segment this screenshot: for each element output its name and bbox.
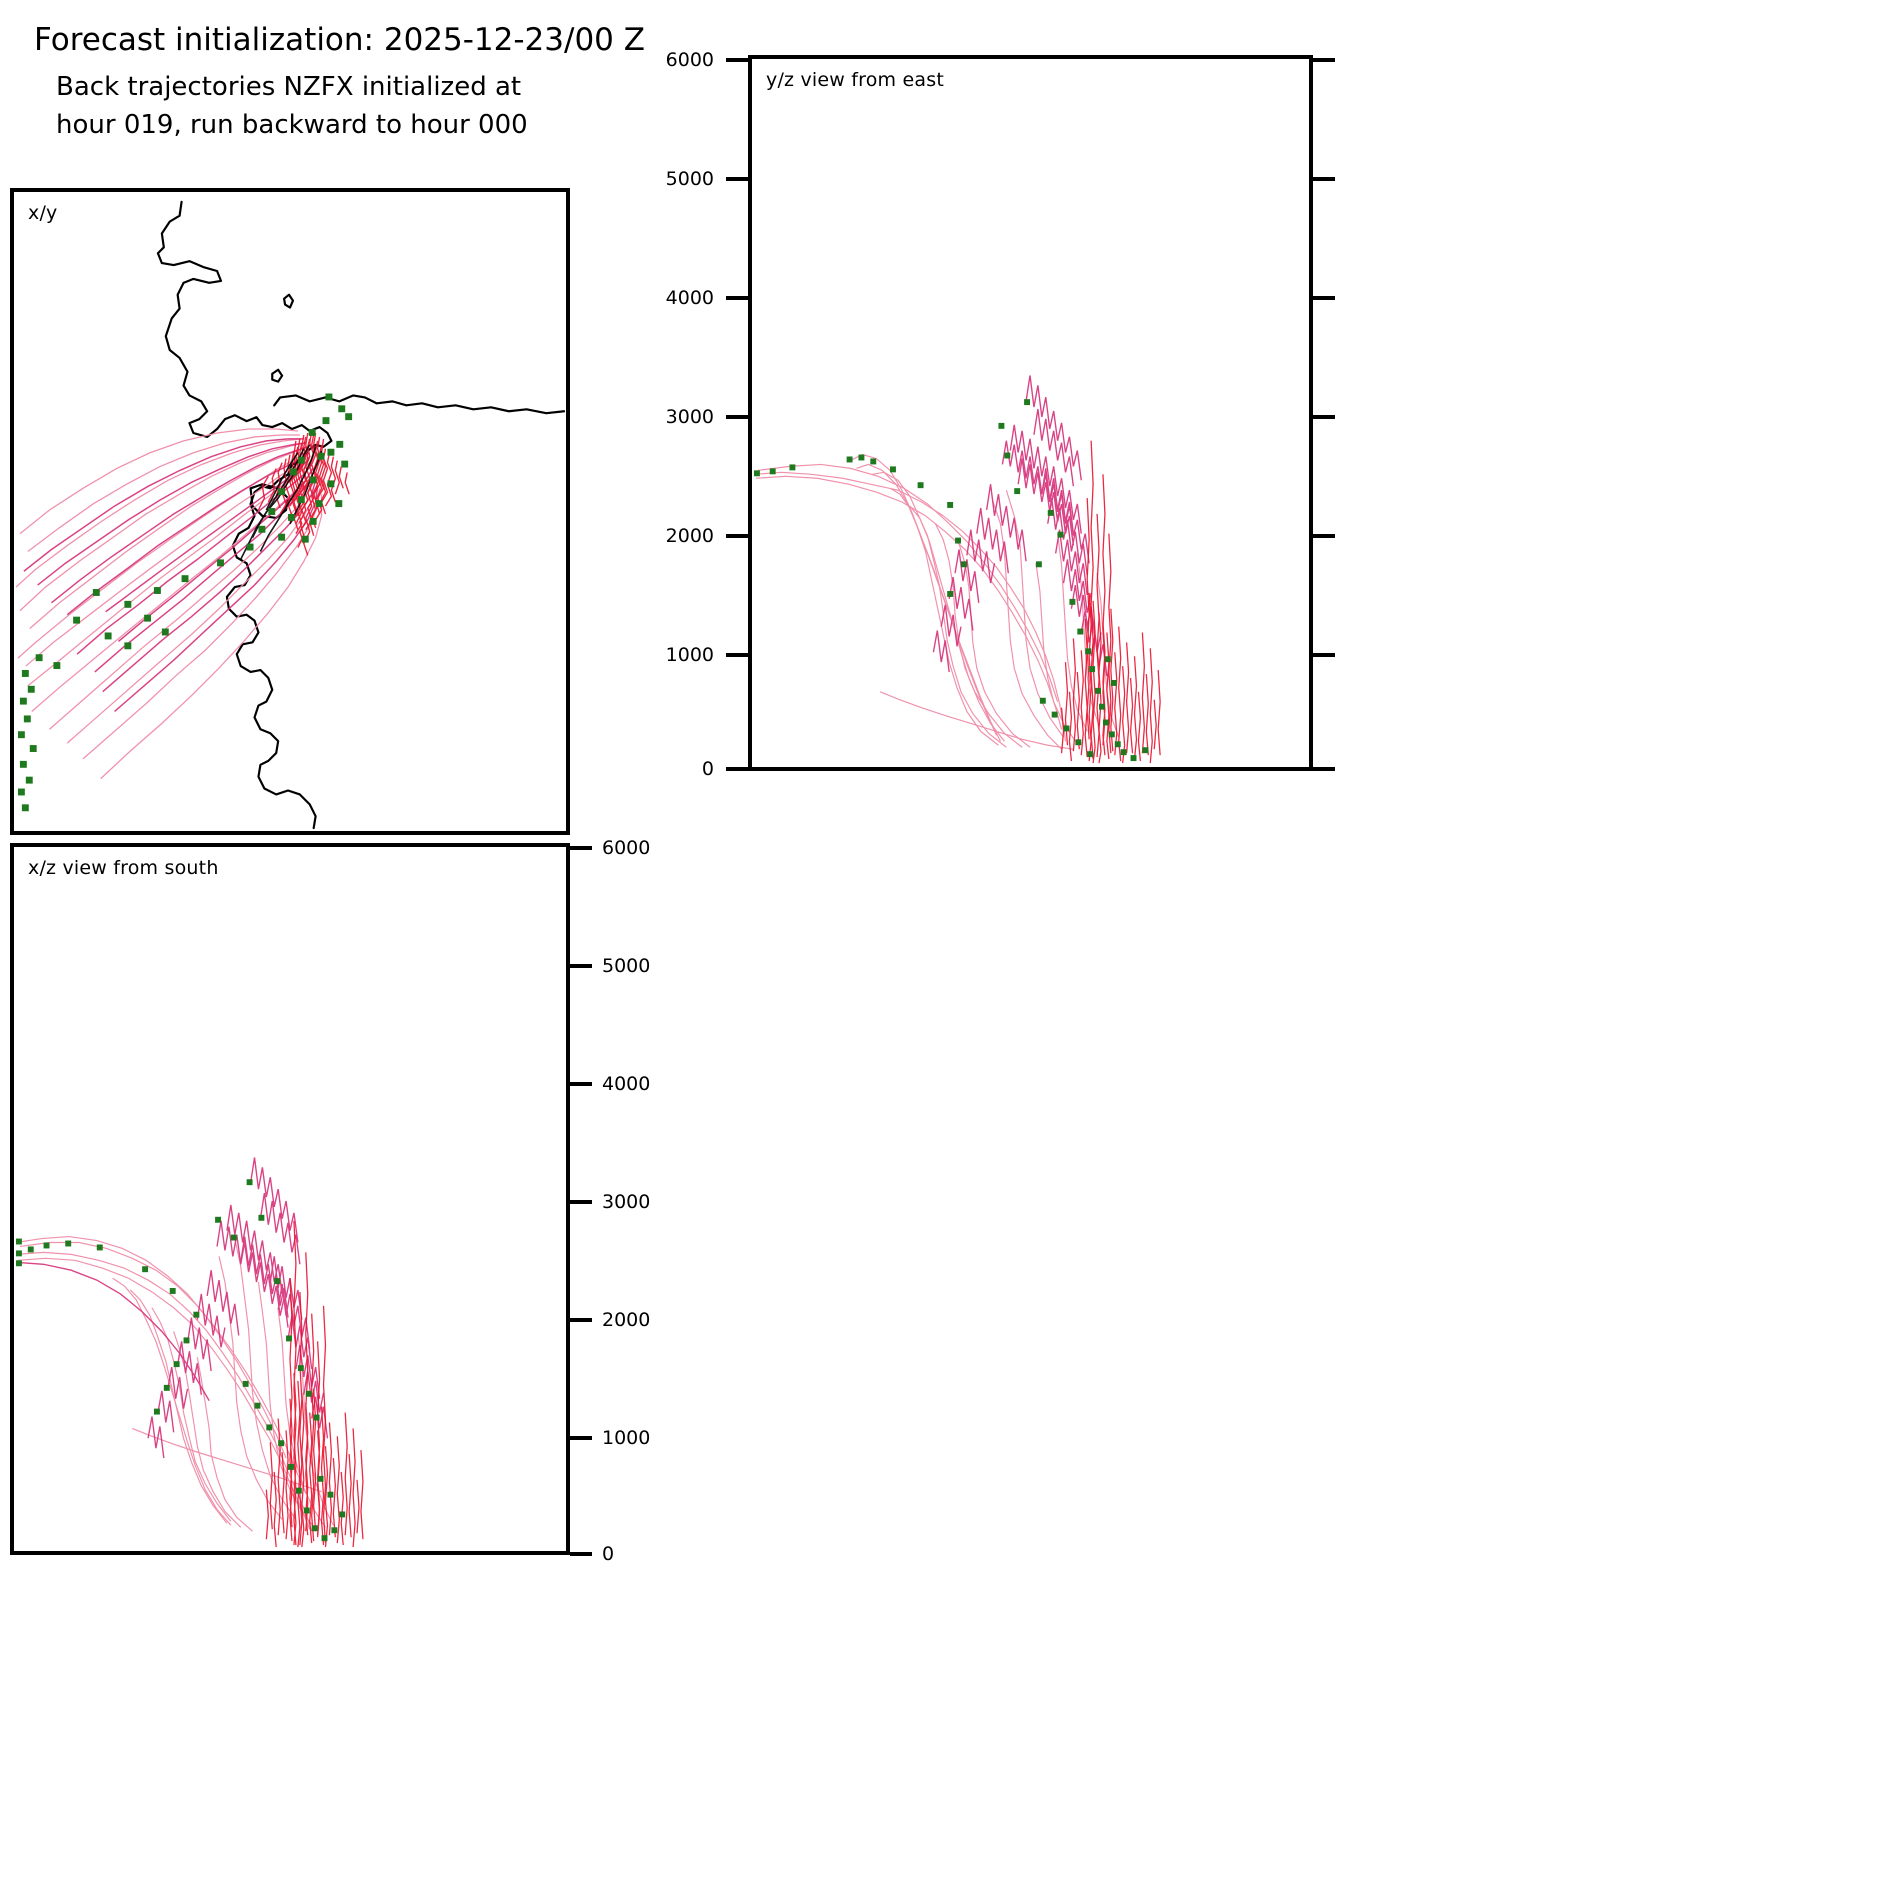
xz-tick-1000: 1000 — [602, 1427, 650, 1449]
panel-xy[interactable]: x/y — [10, 188, 570, 835]
panel-xz[interactable]: x/z view from south — [10, 843, 570, 1555]
xz-trajectories-mid — [16, 1157, 327, 1458]
yz-tick-0: 0 — [702, 758, 714, 780]
yz-y-axis: 6000 5000 4000 3000 2000 1000 0 — [660, 55, 748, 771]
xz-plot-canvas — [14, 847, 566, 1551]
xz-tick-5000: 5000 — [602, 955, 650, 977]
panel-yz-label: y/z view from east — [766, 69, 944, 91]
xz-tick-6000: 6000 — [602, 837, 650, 859]
xz-y-axis: 6000 5000 4000 3000 2000 1000 0 — [570, 843, 668, 1555]
xz-tick-3000: 3000 — [602, 1191, 650, 1213]
yz-tick-5000: 5000 — [666, 168, 714, 190]
yz-tick-2000: 2000 — [666, 525, 714, 547]
xz-tick-2000: 2000 — [602, 1309, 650, 1331]
xz-tick-4000: 4000 — [602, 1073, 650, 1095]
page-title: Forecast initialization: 2025-12-23/00 Z — [34, 20, 854, 60]
coastline-group — [158, 202, 564, 828]
xy-plot-canvas — [14, 192, 566, 831]
panel-xy-label: x/y — [28, 202, 58, 224]
yz-tick-3000: 3000 — [666, 406, 714, 428]
yz-plot-canvas — [752, 59, 1309, 767]
yz-tick-6000: 6000 — [666, 49, 714, 71]
xz-tick-0: 0 — [602, 1543, 614, 1565]
panel-yz[interactable]: y/z view from east — [748, 55, 1313, 771]
panel-xz-label: x/z view from south — [28, 857, 219, 879]
yz-tick-1000: 1000 — [666, 644, 714, 666]
yz-right-spine-ticks — [1313, 55, 1339, 771]
yz-tick-4000: 4000 — [666, 287, 714, 309]
